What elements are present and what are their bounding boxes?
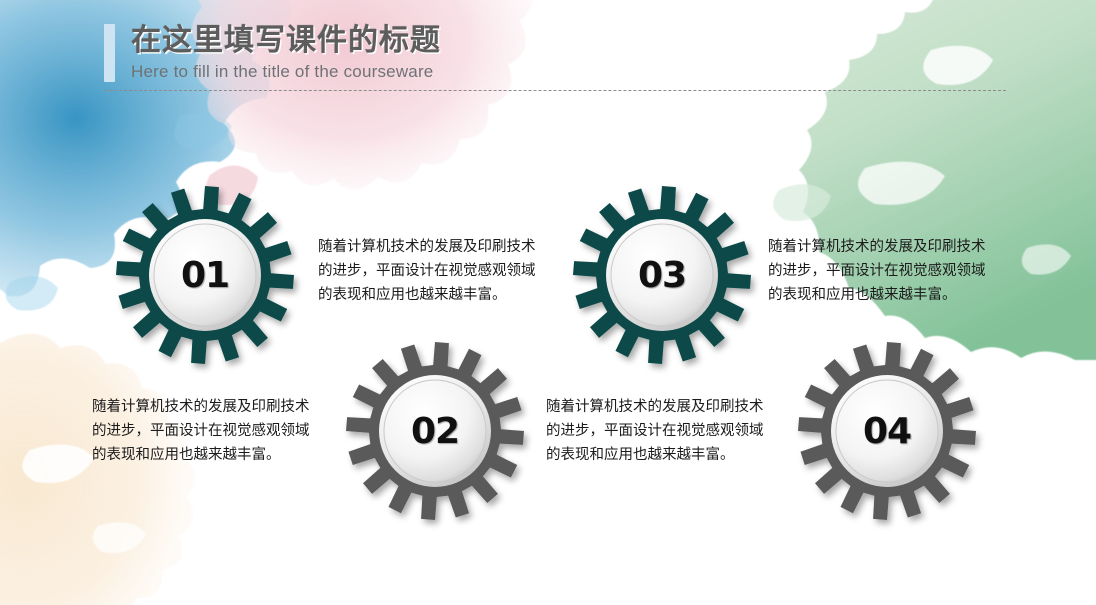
header-divider (104, 90, 1006, 91)
page-title: 在这里填写课件的标题 (131, 24, 441, 59)
gear-item-04[interactable]: 04 (796, 340, 978, 522)
gear-item-02[interactable]: 02 (344, 340, 526, 522)
gear-item-03[interactable]: 03 (571, 184, 753, 366)
slide-canvas: 在这里填写课件的标题 Here to fill in the title of … (0, 0, 1096, 605)
page-subtitle: Here to fill in the title of the coursew… (131, 61, 441, 83)
gear-item-01[interactable]: 01 (114, 184, 296, 366)
title-accent-bar (104, 24, 115, 82)
description-text-01: 随着计算机技术的发展及印刷技术的进步，平面设计在视觉感观领域的表现和应用也越来越… (318, 236, 540, 308)
description-text-04: 随着计算机技术的发展及印刷技术的进步，平面设计在视觉感观领域的表现和应用也越来越… (546, 396, 768, 468)
gear-number-02: 02 (344, 340, 526, 522)
gear-number-03: 03 (571, 184, 753, 366)
title-texts: 在这里填写课件的标题 Here to fill in the title of … (131, 24, 441, 83)
gear-number-04: 04 (796, 340, 978, 522)
description-text-03: 随着计算机技术的发展及印刷技术的进步，平面设计在视觉感观领域的表现和应用也越来越… (768, 236, 990, 308)
description-text-02: 随着计算机技术的发展及印刷技术的进步，平面设计在视觉感观领域的表现和应用也越来越… (92, 396, 314, 468)
title-block: 在这里填写课件的标题 Here to fill in the title of … (104, 24, 441, 83)
gear-number-01: 01 (114, 184, 296, 366)
